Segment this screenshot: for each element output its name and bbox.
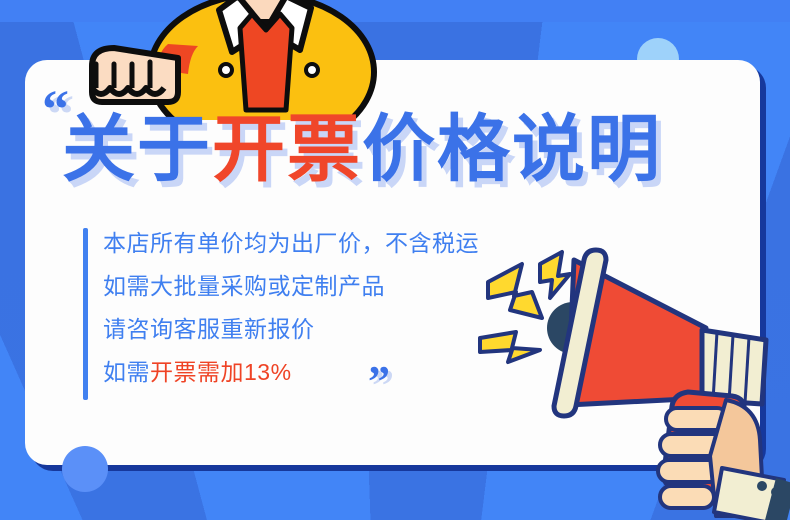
body-line-4-prefix: 如需 [103,359,150,385]
body-line-4-highlight: 开票需加13% [150,359,292,385]
lightning-bolt-icon [488,264,542,318]
page-title: 关于开票价格说明 [62,112,662,189]
title-segment-1: 关于 [62,109,212,190]
promo-banner: “ 关于开票价格说明 本店所有单价均为出厂价，不含税运 如需大批量采购或定制产品… [0,0,790,520]
decor-circle-bottom-left [62,446,108,492]
cuff-button [757,481,767,491]
body-accent-bar [83,228,88,400]
lightning-bolt-icon [480,332,540,362]
megaphone-icon [470,240,790,520]
lightning-bolt-icon [540,252,570,298]
title-segment-2: 开票 [212,109,362,190]
quote-close-mark: ” [368,360,388,404]
title-segment-3: 价格说明 [362,109,662,190]
